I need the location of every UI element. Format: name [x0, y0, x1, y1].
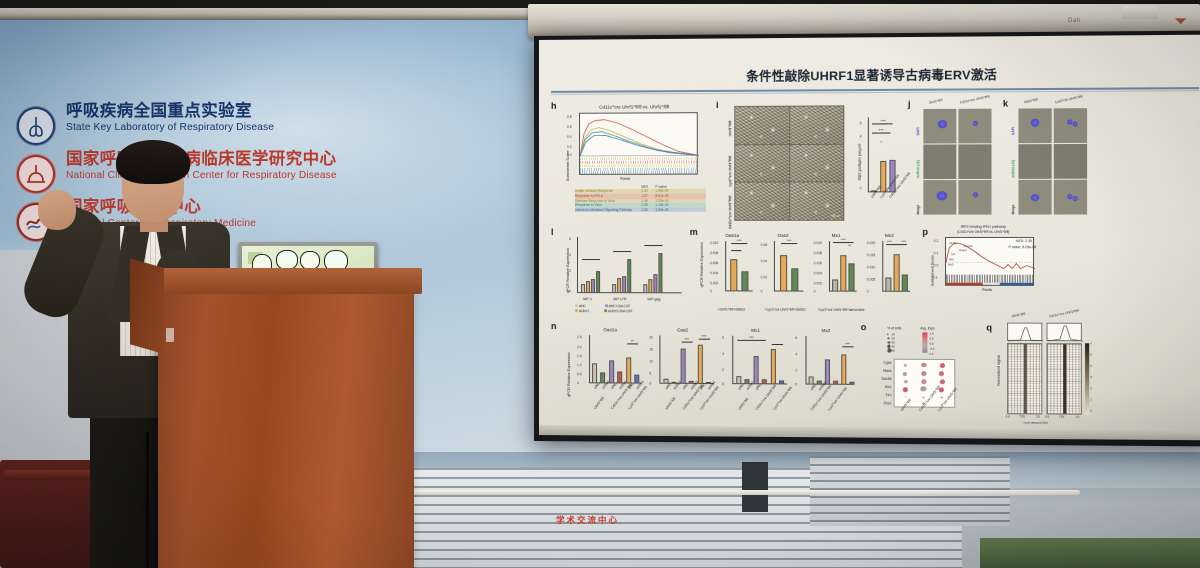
gene-annotation: Sin3a: [949, 241, 956, 245]
sig: **: [623, 338, 641, 343]
ytick: 0.02: [761, 275, 768, 279]
gene-annotation: Ifnar2: [959, 248, 966, 252]
dot: [939, 371, 945, 377]
if-image: [958, 180, 992, 215]
bar: [848, 263, 854, 291]
panel-label-h: h: [551, 101, 557, 111]
panel-i-row-label: Lyz2^cre Uhrf1^fl/fl: [728, 156, 732, 187]
podium-top-surface: [150, 268, 422, 294]
legend-label: siNC: [579, 304, 586, 308]
ytick: 4: [722, 352, 724, 356]
bar: [741, 271, 748, 291]
panel-label-p: p: [922, 227, 928, 237]
panel-label-n: n: [551, 321, 557, 331]
ytick: 2: [860, 161, 862, 165]
panel-p-xlabel: Ranks: [982, 288, 992, 292]
ytick: 0: [710, 289, 712, 293]
bar: [754, 356, 759, 384]
ytick: 4: [569, 253, 571, 257]
sig: ***: [695, 333, 713, 338]
podium-angled-side: [130, 258, 164, 354]
group-xtick: Lyz2^cre Uhrf1^fl/fl: [827, 386, 848, 411]
bar: [627, 259, 631, 293]
ytick: 1: [860, 174, 862, 178]
photo-building-label: 学术交流中心: [556, 514, 619, 526]
if-image: [1053, 144, 1087, 179]
panel-m-chart-mx2: Mx2 *** *** 0.020 0.015: [867, 233, 912, 304]
org-line-state-key-lab: 呼吸疾病全国重点实验室 State Key Laboratory of Resp…: [16, 104, 436, 148]
cbar-tick: 3: [1090, 376, 1092, 379]
ytick: 6: [795, 336, 797, 340]
panel-n-ylabel: qPCR Relative Expression: [567, 352, 571, 397]
ytick: 2: [722, 368, 724, 372]
panel-m-chart-mx1: Mx1 *** ** 0.010 0.008: [814, 233, 859, 304]
ytick: 0.005: [867, 277, 875, 281]
ytick: 4: [795, 352, 797, 356]
panel-o-color-legend-title: Avg. Expr.: [920, 326, 935, 330]
em-image: 500 nm: [790, 183, 844, 220]
panel-q-profile-right: [1046, 323, 1081, 342]
if-image: [1053, 108, 1087, 143]
panel-n-chart-mx1: Mx1 ***: [722, 328, 789, 425]
panel-p: IRF3 binding IFN-I pathway (Cd11c^cre Uh…: [929, 225, 1039, 319]
panel-i-row-label: Uhrf1^fl/fl: [728, 120, 732, 136]
projection-screen: 条件性敲除UHRF1显著诱导古病毒ERV激活 h Cd11c^cre Uhrf1…: [534, 30, 1200, 446]
ytick: 5: [649, 372, 651, 376]
chart-title: Mx2: [867, 233, 912, 238]
panel-m-xlabel: +Uhrf1^fl/fl+DMSO: [718, 307, 745, 311]
ytick: 0.2: [934, 239, 939, 243]
ytick: 0.002: [814, 281, 822, 285]
pathway-pvalue: 1.54e-03: [655, 208, 668, 212]
ytick: 15: [649, 347, 653, 351]
panel-k-row-label: dsRNA (J2): [1011, 160, 1015, 178]
panel-i-barchart: ERV particles per cell *** *** *: [859, 117, 896, 192]
panel-q-profile-left: [1007, 322, 1042, 340]
panel-k-row-label: DAPI: [1011, 127, 1015, 135]
slide-title: 条件性敲除UHRF1显著诱导古病毒ERV激活: [547, 63, 1200, 85]
bar: [596, 271, 600, 293]
chart-title: Oas2: [649, 327, 716, 332]
ytick: 2: [569, 269, 571, 273]
bar: [780, 255, 787, 291]
panel-n-chart-mx2: Mx2 ***: [795, 328, 856, 425]
panel-q-heatmap-left: [1007, 343, 1042, 415]
panel-h-ytick: 0.4: [567, 135, 572, 139]
if-image: [958, 144, 992, 179]
panel-h-title: Cd11c^cre Uhrf1^fl/fl vs. Uhrf1^fl/fl: [563, 104, 706, 110]
panel-j-row-label: dsRNA (J2): [916, 160, 920, 178]
bar: [681, 349, 686, 384]
panel-p-pvalue: P value: 8.25e-08: [1009, 245, 1037, 249]
panel-i: Uhrf1^fl/fl Lyz2^cre Uhrf1^fl/fl Cd11c^c…: [724, 103, 898, 223]
ytick: 0.010: [710, 241, 718, 245]
if-image: [923, 180, 956, 214]
pathway-nes: 1.55: [641, 208, 647, 212]
photo-dark-structure: [742, 462, 768, 512]
ytick: 0: [649, 382, 651, 386]
presentation-scene: 呼吸疾病全国重点实验室 State Key Laboratory of Resp…: [0, 0, 1200, 568]
photo-light-tube: [400, 490, 1080, 495]
gene-annotation: Irf7: [951, 252, 955, 256]
xtick: 2.0: [1036, 415, 1040, 418]
panel-i-sig: ***: [870, 118, 897, 123]
panel-m-chart-oas1a: Oas1a *** 0.010 0.008 0.006: [710, 233, 755, 304]
bar: [833, 381, 838, 385]
ytick: 0.004: [710, 271, 718, 275]
panel-h-table-row: Interferon-Mediated Signaling Pathway 1.…: [575, 208, 706, 213]
ytick: 6: [569, 237, 571, 241]
panel-h-xlabel: Ranks: [620, 177, 630, 181]
color-legend-value: 0.5: [930, 336, 934, 340]
dot: [904, 380, 908, 384]
panel-p-nes: NES: 2.35: [1016, 239, 1032, 243]
ytick: 5: [860, 121, 862, 125]
panel-n-chart-oas2: Oas2 ***: [649, 327, 716, 424]
sig: **: [841, 243, 857, 248]
legend-label: siUhrf1: [579, 309, 589, 313]
speaker-leg-split: [146, 432, 149, 568]
panel-p-title: IRF3 binding IFN-I pathway: [929, 225, 1039, 229]
ytick: 0.04: [761, 259, 768, 263]
ytick: 0.06: [761, 243, 768, 247]
bar: [849, 382, 854, 385]
panel-q: Uhrf1^fl/fl Cd11c^cre Uhrf1^fl/fl Normal…: [995, 314, 1095, 435]
panel-label-q: q: [986, 322, 992, 332]
casing-bracket: [1122, 6, 1158, 19]
panel-j-row-label: DAPI: [916, 127, 920, 135]
bar: [779, 380, 784, 384]
if-image: [1018, 180, 1052, 215]
panel-n: qPCR Relative Expression Oas1a: [563, 327, 857, 433]
bar: [841, 354, 846, 384]
ytick: 2.0: [577, 345, 582, 349]
bar: [612, 284, 616, 293]
if-image: [923, 109, 956, 144]
ytick: 0.015: [867, 253, 875, 257]
if-image: [1053, 180, 1087, 215]
ytick: 1.5: [577, 354, 582, 358]
em-image: [790, 144, 844, 181]
panel-i-scale-bar: 500 nm: [831, 215, 840, 218]
bar: [648, 279, 652, 293]
cbar-tick: 5: [1090, 353, 1092, 356]
panel-q-heatmap-right: [1046, 343, 1081, 415]
bar: [840, 255, 846, 291]
pathway-name: Interferon-Mediated Signaling Pathway: [575, 208, 632, 212]
bar: [771, 349, 776, 384]
em-image: [735, 145, 788, 182]
bar: [643, 284, 647, 293]
bar: [592, 363, 597, 383]
group-label: IAP-gag: [647, 297, 660, 301]
panel-h-ytick: 0.2: [567, 145, 572, 149]
panel-label-j: j: [908, 99, 911, 109]
dot: [920, 386, 926, 392]
panel-k-col-label: Uhrf1^fl/fl: [1024, 97, 1038, 104]
panel-h-ytick: 0.0: [567, 153, 572, 157]
dot: [903, 372, 907, 376]
panel-m-xlabel: +Lyz2^cre Uhrf1^fl/fl+lamivudine: [818, 308, 865, 312]
xtick: -2.0: [1044, 415, 1049, 418]
bar: [885, 277, 891, 291]
em-image: [790, 106, 844, 143]
speaker-gesturing-hand: [38, 190, 76, 230]
panel-j-if-grid: [923, 109, 991, 215]
chart-title: Mx2: [795, 328, 856, 333]
panel-label-m: m: [690, 227, 698, 237]
panel-m-chart-oas2: Oas2 *** 0.06 0.04 0.02 0: [761, 233, 806, 304]
group-xtick: Uhrf1^fl/fl: [593, 396, 605, 410]
xtick: 2.0: [1076, 416, 1080, 419]
lung-emblem-navy-icon: [16, 106, 56, 146]
cbar-tick: 4: [1090, 365, 1092, 368]
group-xtick: Lyz2^cre Uhrf1^fl/fl: [772, 386, 793, 411]
panel-j-row-label: Merge: [916, 205, 920, 215]
ytick: 0: [860, 186, 862, 190]
ytick: 0.002: [710, 281, 718, 285]
sig: ***: [897, 239, 911, 244]
ytick: 0: [577, 381, 579, 385]
panel-l: qPCR Relative Expression: [565, 231, 684, 318]
if-image: [958, 109, 992, 144]
sig: ***: [838, 341, 856, 346]
panel-q-xlabel: nmol distance (Kb): [1024, 420, 1048, 424]
color-legend-value: -0.5: [930, 347, 935, 351]
panel-label-i: i: [716, 100, 719, 110]
chart-title: Oas1a: [577, 327, 643, 332]
group-label: IAP-1: [583, 297, 592, 301]
dot: [921, 363, 926, 368]
panel-q-colorbar: [1085, 343, 1089, 415]
ytick: 0.006: [710, 261, 718, 265]
sig: ***: [727, 238, 751, 243]
legend-label: siUhrf1+GM-CSF: [608, 309, 633, 313]
gene-annotation: Ifit1: [949, 257, 954, 261]
org-zh-label: 呼吸疾病全国重点实验室: [66, 102, 274, 121]
if-image: [923, 144, 956, 179]
ytick: 6: [722, 336, 724, 340]
gene-label: Zbp1: [871, 401, 892, 405]
sig: ***: [678, 336, 696, 341]
ytick: 0: [569, 289, 571, 293]
ytick: 0: [795, 382, 797, 386]
ytick: 2.5: [577, 335, 582, 339]
sig: ***: [777, 238, 801, 243]
panel-i-row-label: Cd11c^cre Uhrf1^fl/fl: [728, 196, 732, 229]
dot: [905, 396, 907, 398]
sig: ***: [829, 237, 858, 242]
ytick: 0.5: [577, 372, 582, 376]
panel-label-o: o: [861, 322, 867, 332]
ytick: 0.008: [814, 251, 822, 255]
color-legend-value: 1.0: [930, 331, 934, 335]
panel-n-chart-oas1a: Oas1a **: [577, 327, 643, 424]
ytick: 10: [649, 359, 653, 363]
panel-l-legend2: siUhrf1 siUhrf1+GM-CSF: [575, 309, 633, 313]
size-legend-value: 50: [891, 348, 894, 352]
bar: [609, 360, 614, 383]
if-image: [1018, 108, 1052, 143]
panel-i-em-micrographs: 500 nm: [734, 105, 844, 220]
bar: [698, 345, 703, 384]
ytick: 0: [722, 382, 724, 386]
panel-j-col-label: Cd11c^cre Uhrf1^fl/fl: [959, 94, 989, 104]
ytick: 0: [814, 289, 816, 293]
ytick: 0: [867, 290, 869, 294]
panel-m-xlabel: +Lyz2^cre Uhrf1^fl/fl+DMSO: [765, 308, 806, 312]
sig: ***: [882, 239, 896, 244]
ytick: 0.1: [934, 251, 939, 255]
ytick: 0.004: [814, 271, 822, 275]
panel-label-l: l: [551, 227, 554, 237]
podium-plate: [166, 328, 174, 342]
ytick: 0.0: [934, 263, 939, 267]
legend-label: siNC+GM-CSF: [609, 304, 630, 308]
dot: [903, 387, 908, 392]
panel-q-col-label: Cd11c^cre Uhrf1^fl/fl: [1049, 308, 1080, 318]
ytick: -0.1: [932, 275, 938, 279]
gene-label: Ddx58: [871, 377, 892, 381]
panel-k-if-grid: [1018, 108, 1087, 214]
ytick: 20: [649, 335, 653, 339]
dot: [940, 363, 945, 368]
dot: [921, 379, 926, 384]
bar: [622, 276, 626, 293]
gene-label: Ifih1: [871, 385, 892, 389]
bar: [626, 357, 631, 383]
bar: [658, 253, 662, 293]
sig: ***: [734, 335, 769, 340]
bar: [791, 268, 798, 291]
panel-m: qPCR Relative Expression Oas1a ***: [698, 231, 914, 318]
bar: [586, 281, 590, 293]
bar: [591, 279, 595, 293]
group-xtick: Uhrf1^fl/fl: [737, 397, 749, 411]
photo-greenery: [980, 538, 1200, 568]
panel-q-ylabel: Normalized signal: [997, 355, 1001, 386]
group-xtick: Uhrf1^fl/fl: [664, 397, 676, 411]
panel-i-sig: ***: [870, 127, 893, 132]
bar: [902, 274, 908, 291]
ytick: 0.020: [867, 241, 875, 245]
cbar-tick: 1: [1090, 398, 1092, 401]
casing-brand-label: Dali: [1068, 18, 1080, 24]
panel-h-pathway-table: NES P-value Innate Immune Response 1.53 …: [575, 185, 706, 213]
panel-h-ytick: 0.8: [567, 115, 572, 119]
dot: [940, 379, 945, 384]
cbar-tick: 2: [1090, 387, 1092, 390]
cbar-tick: 0: [1090, 410, 1092, 413]
ytick: 0: [761, 289, 763, 293]
panel-o: % of cells Avg. Expr. 10 20 30 40 50 1.0…: [869, 326, 982, 434]
dot: [922, 396, 924, 398]
bar: [894, 254, 900, 292]
ytick: 0.010: [867, 265, 875, 269]
ytick: 0.008: [710, 251, 718, 255]
xtick: TSS: [1019, 415, 1024, 418]
em-image: [735, 183, 788, 220]
bar: [730, 259, 737, 291]
if-image: [1018, 144, 1052, 179]
ytick: 2: [795, 368, 797, 372]
panel-m-ylabel: qPCR Relative Expression: [700, 242, 704, 287]
xtick: TSS: [1059, 416, 1064, 419]
panel-k-row-label: Merge: [1011, 205, 1015, 215]
casing-logo-mark-icon: ◥◤: [1175, 17, 1186, 25]
bar: [762, 379, 767, 384]
gene-annotation: Mx1: [948, 262, 953, 266]
org-en-label: State Key Laboratory of Respiratory Dise…: [66, 121, 274, 134]
bar: [653, 274, 657, 293]
panel-j-col-label: Uhrf1^fl/fl: [929, 98, 943, 105]
podium: [158, 284, 414, 568]
ytick: 3: [860, 148, 862, 152]
panel-h-gsea-plot: Ranks: [579, 112, 698, 175]
gene-label: Mavs: [871, 369, 892, 373]
panel-k: Uhrf1^fl/fl Lyz2^cre Uhrf1^fl/fl DAPI ds…: [1009, 100, 1090, 219]
ytick: 1.0: [577, 363, 582, 367]
dot: [904, 364, 907, 367]
em-image: [735, 107, 788, 144]
panel-p-subtitle: (Cd11c^cre Uhrf1^fl/fl vs. Uhrf1^fl/fl): [929, 230, 1039, 234]
ytick: 0.010: [814, 241, 822, 245]
speaker-hair: [116, 140, 190, 184]
cbar-tick: 6: [1090, 342, 1092, 345]
slide-content: 条件性敲除UHRF1显著诱导古病毒ERV激活 h Cd11c^cre Uhrf1…: [539, 35, 1200, 430]
ytick: 4: [860, 135, 862, 139]
bar: [832, 279, 838, 291]
gene-label: Cgas: [871, 361, 892, 365]
color-legend-value: 0.0: [930, 341, 934, 345]
dot: [941, 396, 943, 398]
ytick: 0.006: [814, 261, 822, 265]
bar: [581, 284, 585, 293]
panel-o-colorbar: [922, 332, 927, 352]
bar: [617, 278, 621, 293]
figure-multipanel: h Cd11c^cre Uhrf1^fl/fl vs. Uhrf1^fl/fl …: [547, 95, 1200, 434]
color-legend-value: -1.0: [929, 352, 934, 356]
projection-screen-surface: 条件性敲除UHRF1显著诱导古病毒ERV激活 h Cd11c^cre Uhrf1…: [539, 35, 1200, 441]
panel-l-legend: siNC siNC+GM-CSF: [575, 304, 630, 308]
panel-h: Cd11c^cre Uhrf1^fl/fl vs. Uhrf1^fl/fl En…: [563, 104, 706, 223]
group-label: IAP-LTR: [613, 297, 627, 301]
xtick: -2.0: [1005, 415, 1010, 418]
panel-k-col-label: Lyz2^cre Uhrf1^fl/fl: [1055, 94, 1083, 104]
panel-h-ytick: 0.6: [567, 125, 572, 129]
panel-i-sig: *: [874, 140, 888, 145]
panel-o-size-legend-title: % of cells: [887, 326, 901, 330]
panel-label-k: k: [1003, 98, 1008, 108]
chart-title: Mx1: [722, 328, 789, 333]
dot: [921, 371, 926, 376]
panel-j: Uhrf1^fl/fl Cd11c^cre Uhrf1^fl/fl DAPI d…: [914, 100, 995, 218]
panel-p-ylabel: Enrichment Score: [931, 255, 935, 286]
gene-label: Tlr3: [871, 393, 892, 397]
